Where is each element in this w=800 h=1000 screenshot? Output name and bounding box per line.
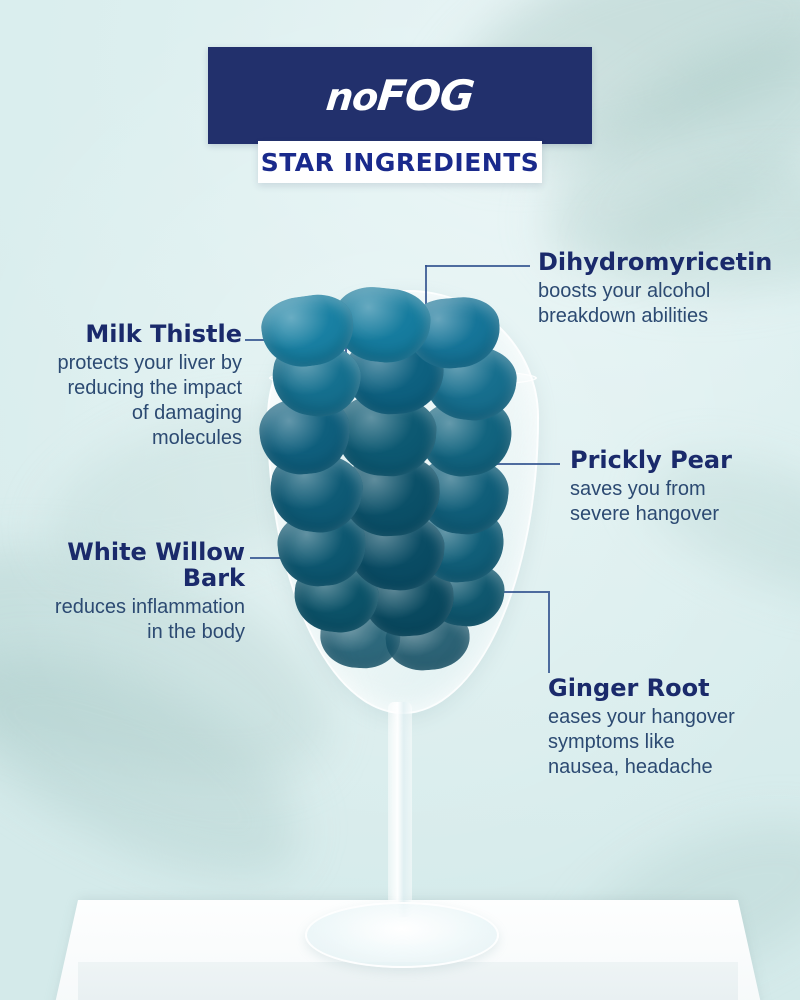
callout-desc: saves you from severe hangover: [570, 477, 790, 527]
callout-ginger-root: Ginger Root eases your hangover symptoms…: [548, 676, 788, 780]
brand-banner: noFOG: [208, 47, 592, 144]
glass-stem: [388, 702, 412, 917]
callout-desc: eases your hangover symptoms like nausea…: [548, 705, 788, 781]
infographic-page: noFOG STAR INGREDIENTS Dihydromyricetin …: [0, 0, 800, 1000]
subtitle-text: STAR INGREDIENTS: [261, 148, 540, 177]
callout-dihydromyricetin: Dihydromyricetin boosts your alcohol bre…: [538, 250, 788, 329]
glass-foot: [305, 902, 499, 968]
callout-title: Prickly Pear: [570, 448, 790, 474]
callout-desc: reduces inflammation in the body: [10, 595, 245, 645]
gummy-pile: [268, 300, 530, 700]
callout-milk-thistle: Milk Thistle protects your liver by redu…: [14, 322, 242, 452]
callout-title: Milk Thistle: [14, 322, 242, 348]
subtitle-box: STAR INGREDIENTS: [258, 141, 542, 183]
callout-desc: boosts your alcohol breakdown abilities: [538, 279, 788, 329]
callout-desc: protects your liver by reducing the impa…: [14, 351, 242, 452]
brand-logo-suffix: FOG: [375, 71, 476, 120]
callout-title: Ginger Root: [548, 676, 788, 702]
callout-prickly-pear: Prickly Pear saves you from severe hango…: [570, 448, 790, 527]
brand-logo: noFOG: [205, 71, 594, 120]
callout-white-willow-bark: White Willow Bark reduces inflammation i…: [10, 540, 245, 645]
callout-title: Dihydromyricetin: [538, 250, 788, 276]
callout-title: White Willow Bark: [10, 540, 245, 592]
brand-logo-prefix: no: [324, 75, 380, 119]
